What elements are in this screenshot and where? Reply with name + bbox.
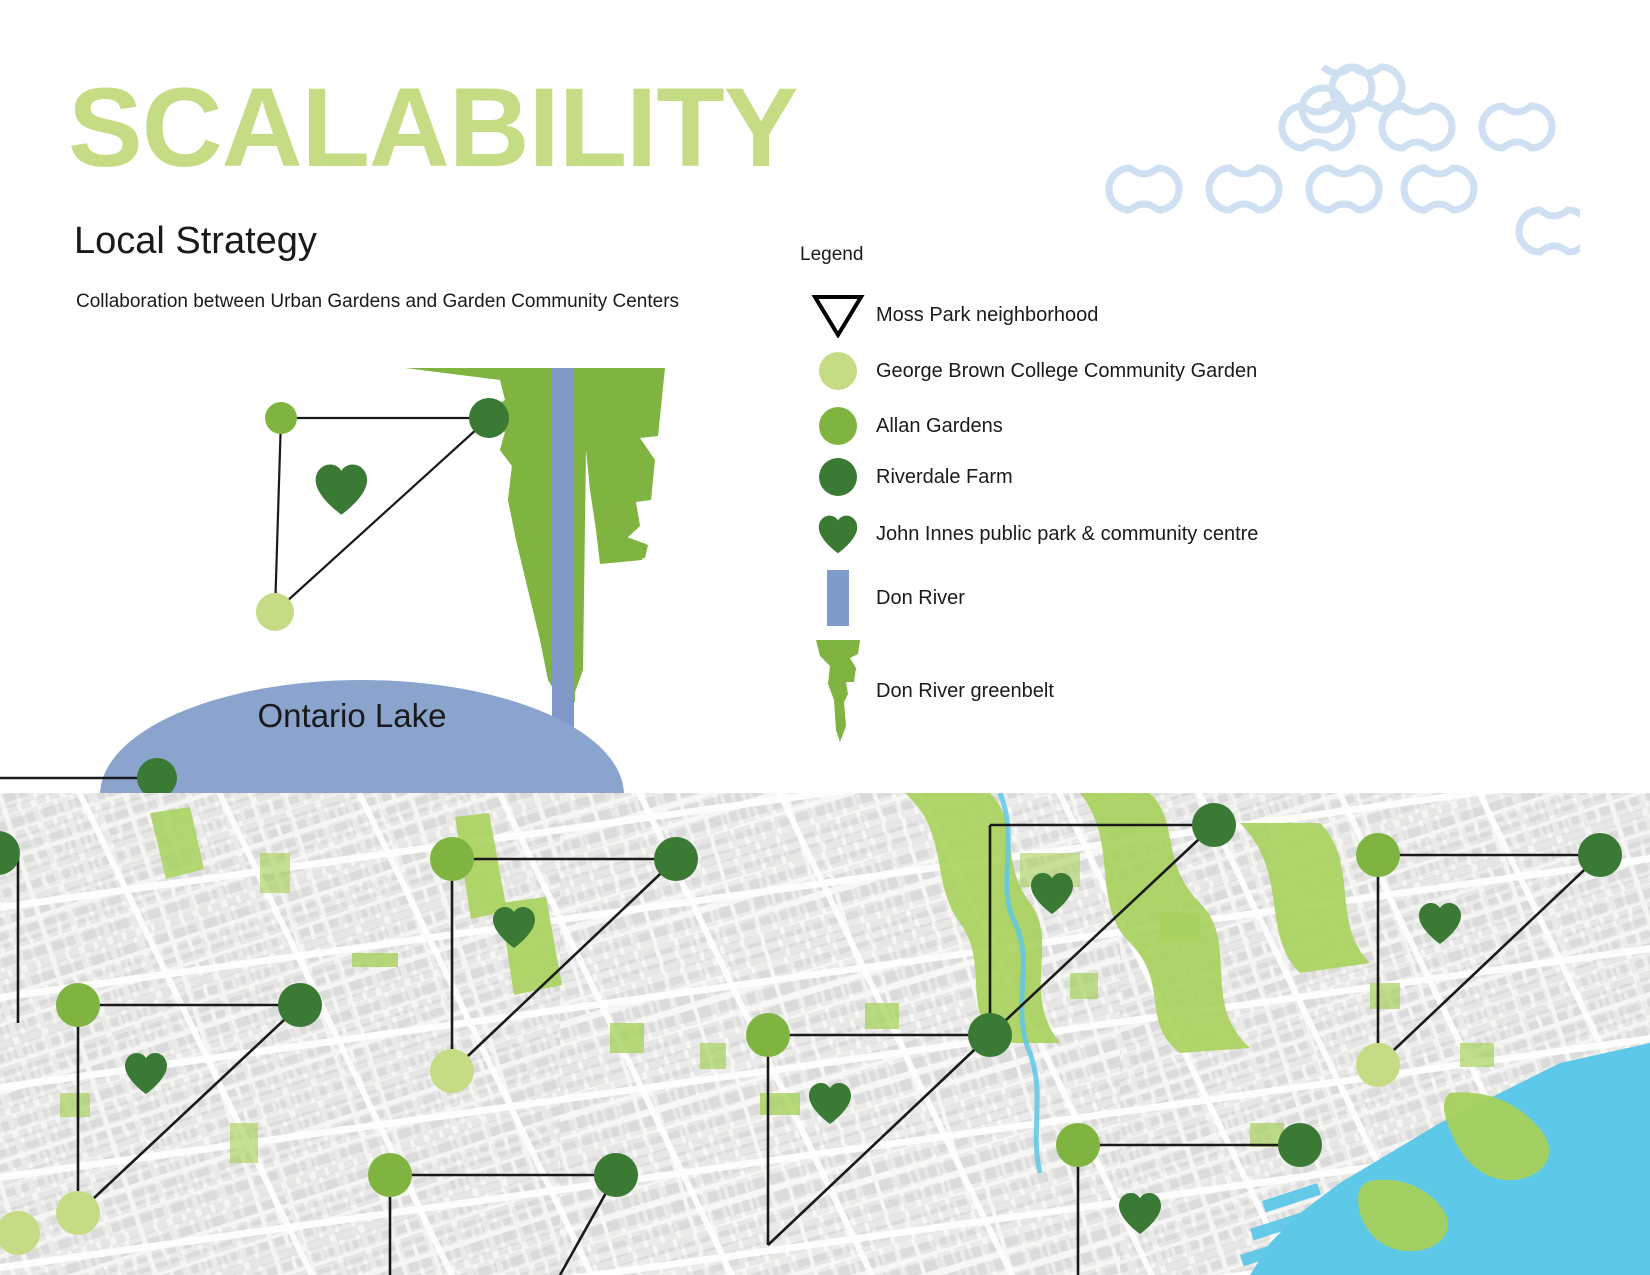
riverdale-farm-node[interactable] bbox=[278, 983, 322, 1027]
circle-icon bbox=[800, 458, 876, 496]
legend-item-label: Moss Park neighborhood bbox=[876, 304, 1098, 327]
legend-item-riverdale-farm[interactable]: Riverdale Farm bbox=[800, 458, 1013, 496]
legend-item-label: John Innes public park & community centr… bbox=[876, 523, 1258, 546]
allan-gardens-node[interactable] bbox=[265, 402, 297, 434]
legend-item-label: Don River greenbelt bbox=[876, 680, 1054, 703]
george-brown-node[interactable] bbox=[1356, 1043, 1400, 1087]
legend-item-label: Riverdale Farm bbox=[876, 466, 1013, 489]
page-title: SCALABILITY bbox=[68, 72, 797, 184]
allan-gardens-node[interactable] bbox=[746, 1013, 790, 1057]
page-description: Collaboration between Urban Gardens and … bbox=[76, 292, 679, 311]
schematic-diagram: Ontario Lake bbox=[0, 340, 760, 800]
greenbelt-shape-icon bbox=[800, 638, 876, 744]
john-innes-heart-icon[interactable] bbox=[316, 464, 367, 514]
allan-gardens-node[interactable] bbox=[368, 1153, 412, 1197]
river-swatch-icon bbox=[800, 570, 876, 626]
circle-icon bbox=[800, 352, 876, 390]
map-section[interactable] bbox=[0, 793, 1650, 1275]
legend-item-don-river-greenbelt[interactable]: Don River greenbelt bbox=[800, 638, 1054, 744]
cloud-pattern-decoration bbox=[1060, 58, 1580, 258]
allan-gardens-node[interactable] bbox=[1356, 833, 1400, 877]
george-brown-node[interactable] bbox=[56, 1191, 100, 1235]
legend: Legend Moss Park neighborhood George Bro… bbox=[800, 244, 1360, 280]
riverdale-farm-node[interactable] bbox=[1278, 1123, 1322, 1167]
riverdale-farm-node[interactable] bbox=[1578, 833, 1622, 877]
george-brown-node[interactable] bbox=[256, 593, 294, 631]
ontario-lake-label: Ontario Lake bbox=[258, 697, 447, 734]
legend-item-don-river[interactable]: Don River bbox=[800, 570, 965, 626]
riverdale-farm-node[interactable] bbox=[1192, 803, 1236, 847]
allan-gardens-node[interactable] bbox=[56, 983, 100, 1027]
legend-item-label: George Brown College Community Garden bbox=[876, 360, 1257, 383]
legend-title: Legend bbox=[800, 244, 1360, 266]
legend-item-label: Don River bbox=[876, 587, 965, 610]
allan-gardens-node[interactable] bbox=[1056, 1123, 1100, 1167]
page-subtitle: Local Strategy bbox=[74, 222, 317, 260]
legend-item-john-innes[interactable]: John Innes public park & community centr… bbox=[800, 513, 1258, 555]
street-map[interactable] bbox=[0, 793, 1650, 1275]
legend-item-label: Allan Gardens bbox=[876, 415, 1003, 438]
george-brown-node[interactable] bbox=[430, 1049, 474, 1093]
cloud-row-1 bbox=[1109, 67, 1580, 252]
riverdale-farm-node[interactable] bbox=[968, 1013, 1012, 1057]
legend-item-moss-park[interactable]: Moss Park neighborhood bbox=[800, 292, 1098, 338]
allan-gardens-node[interactable] bbox=[430, 837, 474, 881]
heart-icon bbox=[800, 513, 876, 555]
don-river-stripe bbox=[552, 368, 574, 750]
circle-icon bbox=[800, 407, 876, 445]
diagram-network-links bbox=[275, 418, 489, 612]
triangle-down-outline-icon bbox=[800, 292, 876, 338]
legend-item-allan-gardens[interactable]: Allan Gardens bbox=[800, 407, 1003, 445]
riverdale-farm-node[interactable] bbox=[594, 1153, 638, 1197]
riverdale-farm-node[interactable] bbox=[654, 837, 698, 881]
legend-item-george-brown[interactable]: George Brown College Community Garden bbox=[800, 352, 1257, 390]
riverdale-farm-node[interactable] bbox=[469, 398, 509, 438]
